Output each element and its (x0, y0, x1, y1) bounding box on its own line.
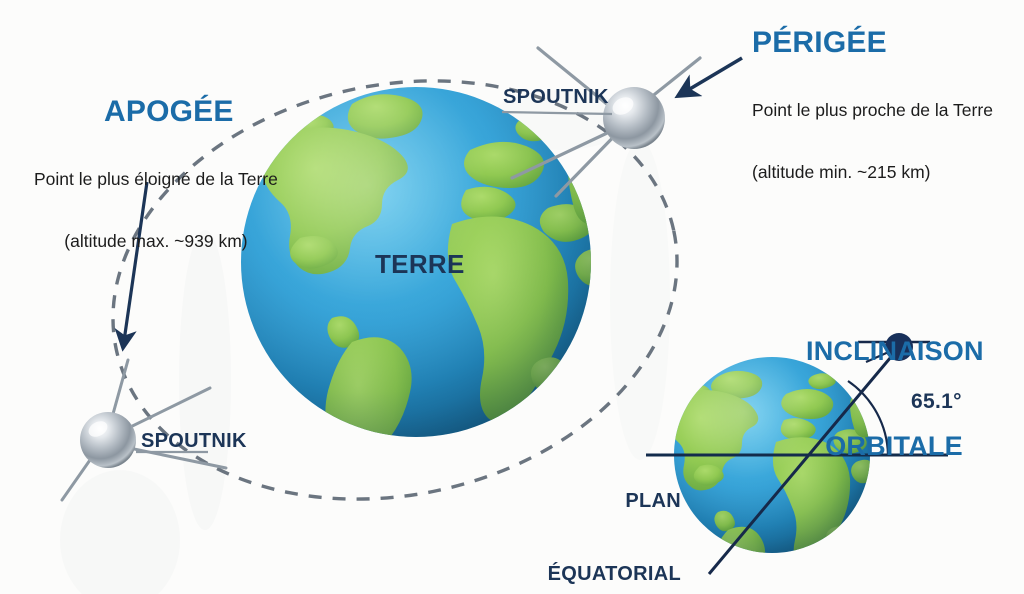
apogee-title: APOGÉE (104, 94, 234, 129)
apogee-description-line2: (altitude max. ~939 km) (34, 231, 278, 252)
perigee-arrow (678, 58, 742, 96)
perigee-description-line2: (altitude min. ~215 km) (752, 162, 993, 183)
apogee-description: Point le plus éloigné de la Terre (altit… (34, 128, 278, 293)
inclination-angle-value: 65.1° (911, 390, 962, 415)
equatorial-plane-label-line1: PLAN (529, 489, 681, 513)
equatorial-plane-label: PLAN ÉQUATORIAL (529, 440, 681, 594)
perigee-title: PÉRIGÉE (752, 25, 887, 60)
sputnik-label-perigee: SPOUTNIK (503, 86, 609, 110)
equatorial-plane-label-line2: ÉQUATORIAL (529, 562, 681, 586)
apogee-description-line1: Point le plus éloigné de la Terre (34, 169, 278, 190)
perigee-description: Point le plus proche de la Terre (altitu… (752, 59, 993, 224)
sputnik-label-apogee: SPOUTNIK (141, 430, 247, 454)
perigee-description-line1: Point le plus proche de la Terre (752, 100, 993, 121)
inclination-title-line1: INCLINAISON (806, 336, 982, 368)
inclination-title-line2: ORBITALE (806, 431, 982, 463)
earth-label: TERRE (375, 249, 465, 280)
diagram-canvas: APOGÉE Point le plus éloigné de la Terre… (0, 0, 1024, 594)
